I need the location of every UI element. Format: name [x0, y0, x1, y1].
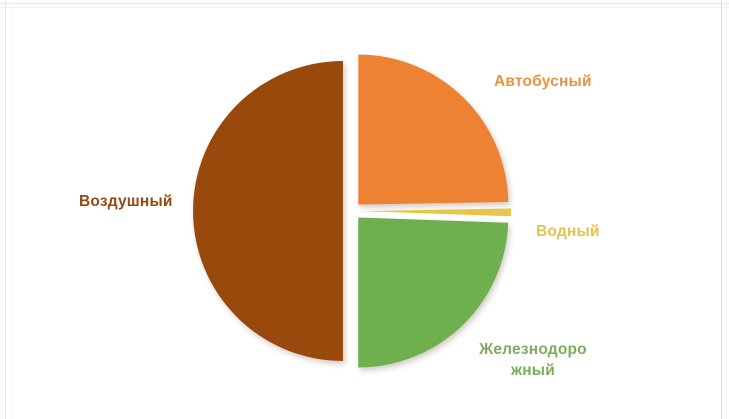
pie-slice-bus[interactable]: [358, 55, 508, 205]
pie-slice-water[interactable]: [361, 208, 511, 216]
pie-chart-screenshot: Воздушный Автобусный Водный Железнодоро …: [0, 0, 729, 419]
pie-label-rail: Железнодоро жный: [470, 340, 596, 382]
pie-slice-air[interactable]: [193, 61, 343, 361]
pie-label-rail-line1: Железнодоро: [479, 341, 587, 358]
pie-chart: Воздушный Автобусный Водный Железнодоро …: [0, 0, 729, 419]
pie-slices: [193, 55, 511, 368]
pie-label-rail-line2: жный: [511, 362, 555, 379]
pie-label-bus: Автобусный: [494, 72, 592, 93]
pie-label-water: Водный: [536, 222, 600, 243]
pie-label-air: Воздушный: [79, 192, 173, 213]
